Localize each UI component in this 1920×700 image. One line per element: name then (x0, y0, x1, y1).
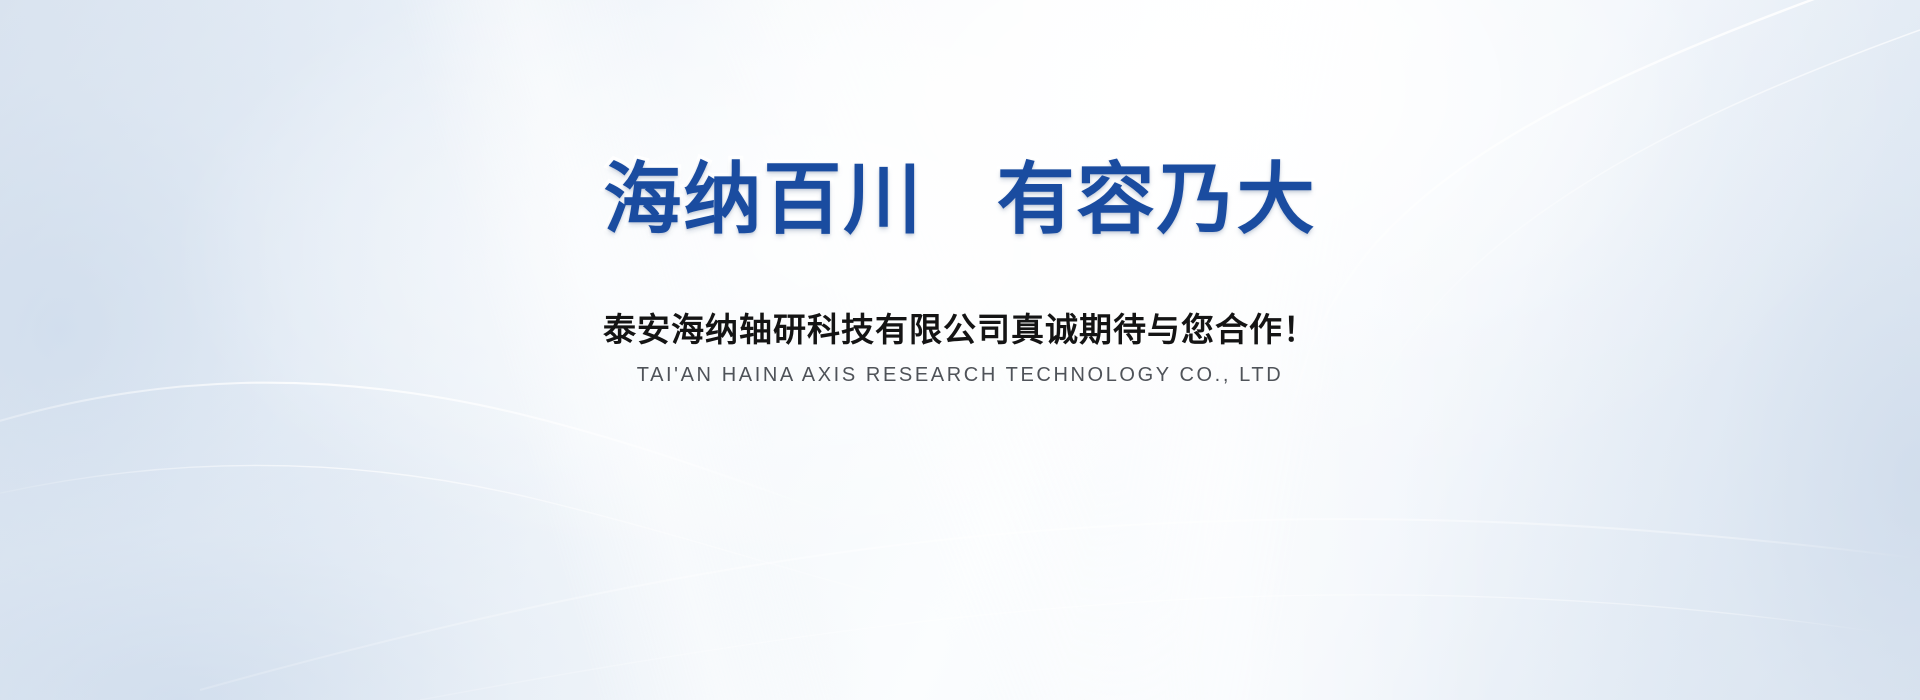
banner-content: 海纳百川 有容乃大 泰安海纳轴研科技有限公司真诚期待与您合作！ TAI'AN H… (0, 0, 1920, 700)
hero-banner: 海纳百川 有容乃大 泰安海纳轴研科技有限公司真诚期待与您合作！ TAI'AN H… (0, 0, 1920, 700)
headline-part-2: 有容乃大 (997, 155, 1317, 243)
banner-subtitle-chinese: 泰安海纳轴研科技有限公司真诚期待与您合作！ (0, 310, 1920, 350)
banner-subtitle-english: TAI'AN HAINA AXIS RESEARCH TECHNOLOGY CO… (0, 363, 1920, 387)
banner-headline: 海纳百川 有容乃大 (0, 160, 1920, 238)
headline-part-1: 海纳百川 (603, 155, 923, 243)
